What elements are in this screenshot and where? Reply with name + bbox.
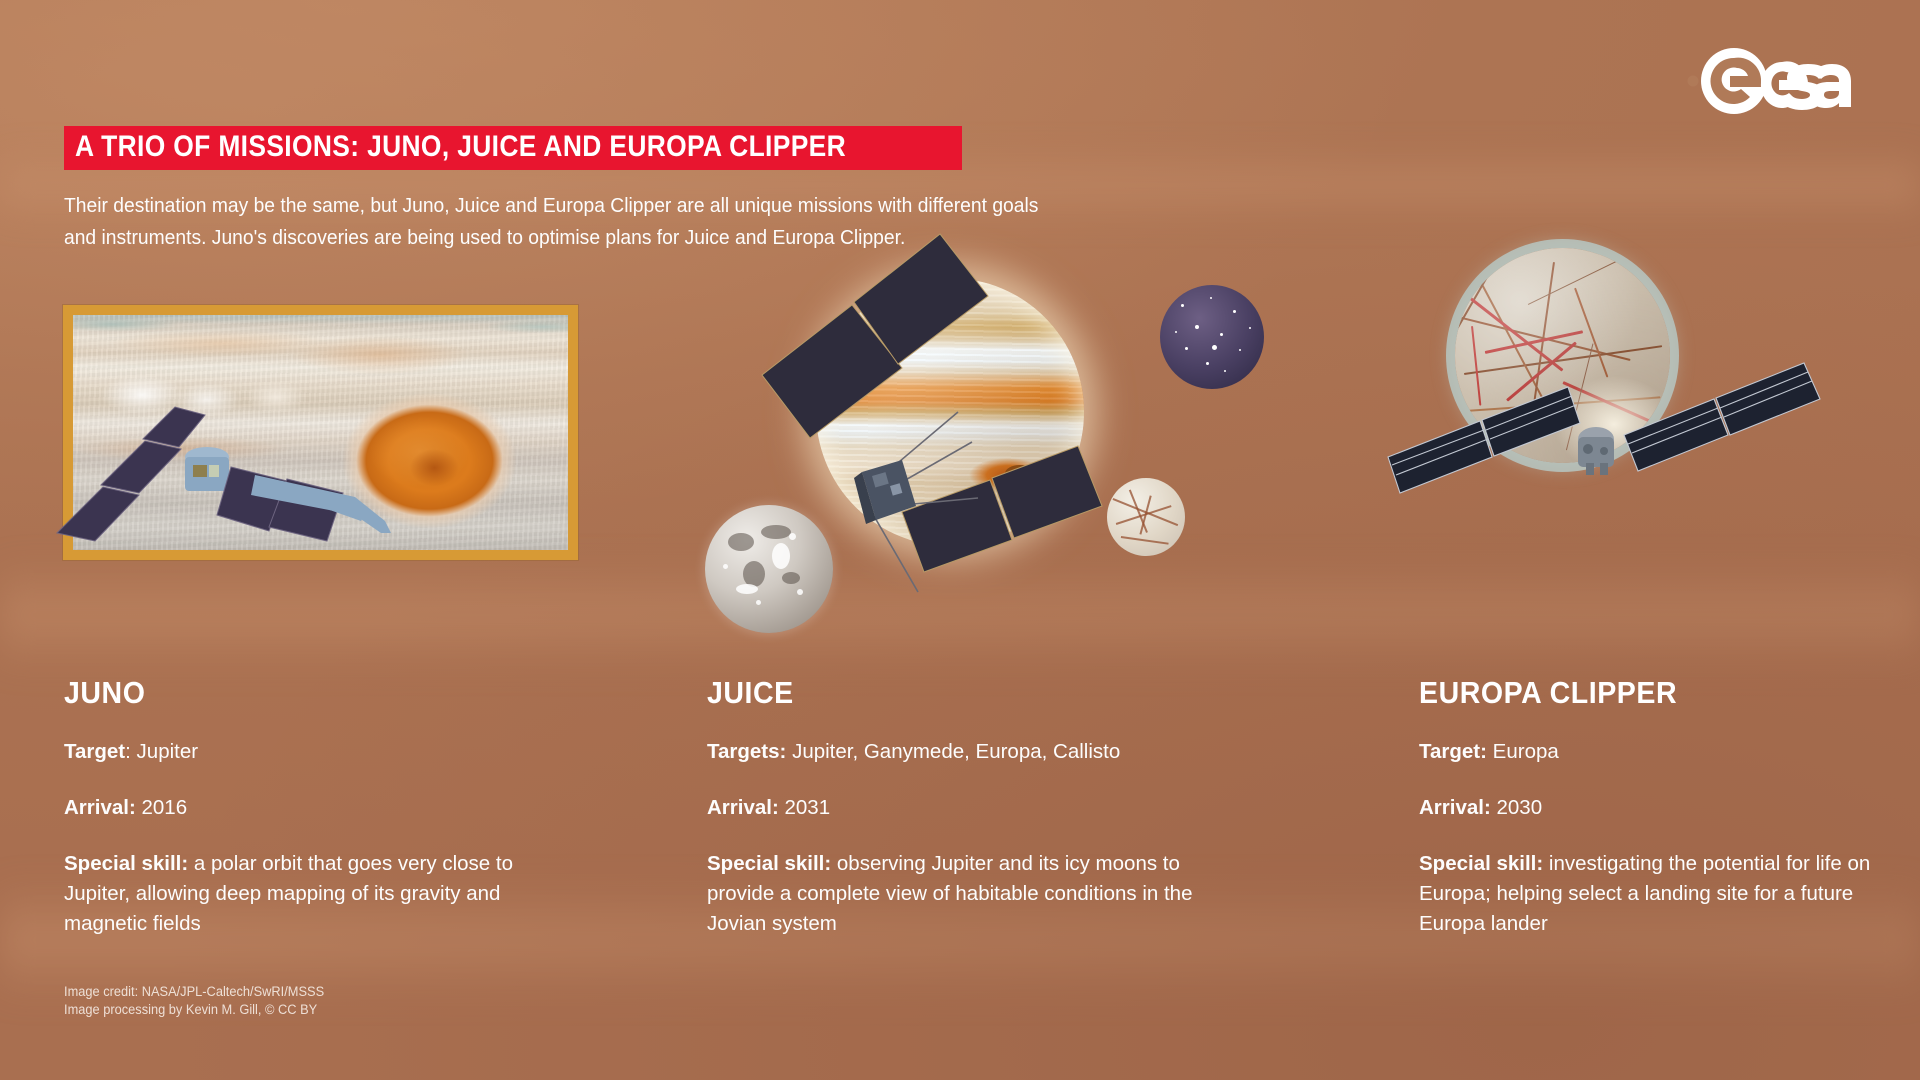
arrival-label: Arrival: xyxy=(1419,796,1491,819)
ganymede-bright-spot xyxy=(736,584,758,594)
skill-label: Special skill: xyxy=(64,852,188,875)
star xyxy=(1195,325,1199,329)
mission-target-juice: Targets: Jupiter, Ganymede, Europa, Call… xyxy=(707,737,1227,767)
star xyxy=(1239,349,1241,351)
target-value: Europa xyxy=(1493,740,1559,763)
image-credit: Image credit: NASA/JPL-Caltech/SwRI/MSSS… xyxy=(64,983,338,1019)
target-value: Jupiter, Ganymede, Europa, Callisto xyxy=(792,740,1120,763)
mission-arrival-juno: Arrival: 2016 xyxy=(64,793,584,823)
mission-target-europa-clipper: Target: Europa xyxy=(1419,737,1889,767)
page-subtitle-line-2: and instruments. Juno's discoveries are … xyxy=(64,222,1192,254)
mission-name-juice: JUICE xyxy=(707,675,1185,711)
mission-name-juno: JUNO xyxy=(64,675,542,711)
mission-column-europa-clipper: EUROPA CLIPPER Target: Europa Arrival: 2… xyxy=(1419,675,1889,939)
page-title-banner: A TRIO OF MISSIONS: JUNO, JUICE AND EURO… xyxy=(64,126,962,170)
star xyxy=(1224,370,1226,372)
image-credit-line-1: Image credit: NASA/JPL-Caltech/SwRI/MSSS xyxy=(64,983,324,1001)
page-subtitle-line-1: Their destination may be the same, but J… xyxy=(64,190,1192,222)
page-title: A TRIO OF MISSIONS: JUNO, JUICE AND EURO… xyxy=(75,130,846,164)
star xyxy=(1212,345,1217,350)
ganymede-crater xyxy=(789,533,796,540)
star xyxy=(1181,304,1184,307)
arrival-value: 2016 xyxy=(141,796,187,819)
galaxy-globular-cluster xyxy=(1160,285,1264,389)
target-separator: : xyxy=(125,740,136,763)
ganymede-patch xyxy=(761,525,791,539)
arrival-value: 2031 xyxy=(784,796,830,819)
mission-skill-europa-clipper: Special skill: investigating the potenti… xyxy=(1419,849,1889,939)
star xyxy=(1249,327,1251,329)
target-value: Jupiter xyxy=(137,740,199,763)
star xyxy=(1206,362,1209,365)
mission-column-juice: JUICE Targets: Jupiter, Ganymede, Europa… xyxy=(707,675,1227,939)
skill-label: Special skill: xyxy=(707,852,831,875)
mission-skill-juno: Special skill: a polar orbit that goes v… xyxy=(64,849,584,939)
juno-spacecraft xyxy=(55,415,395,550)
ganymede-crater xyxy=(797,589,803,595)
ganymede-crater xyxy=(723,564,728,569)
mission-skill-juice: Special skill: observing Jupiter and its… xyxy=(707,849,1227,939)
ganymede-crater xyxy=(756,600,761,605)
mission-arrival-europa-clipper: Arrival: 2030 xyxy=(1419,793,1889,823)
star xyxy=(1233,310,1236,313)
ganymede-patch xyxy=(782,572,800,584)
europa-clipper-spacecraft xyxy=(1528,405,1853,580)
mission-arrival-juice: Arrival: 2031 xyxy=(707,793,1227,823)
star xyxy=(1175,331,1177,333)
ganymede-patch xyxy=(728,533,754,551)
esa-logo[interactable] xyxy=(1666,44,1856,118)
mission-target-juno: Target: Jupiter xyxy=(64,737,584,767)
image-credit-line-2: Image processing by Kevin M. Gill, © CC … xyxy=(64,1001,324,1019)
skill-label: Special skill: xyxy=(1419,852,1543,875)
ganymede-bright-spot xyxy=(772,543,790,569)
target-label: Target xyxy=(64,740,125,763)
arrival-value: 2030 xyxy=(1496,796,1542,819)
mission-name-europa-clipper: EUROPA CLIPPER xyxy=(1419,675,1851,711)
target-label: Target: xyxy=(1419,740,1487,763)
page-subtitle: Their destination may be the same, but J… xyxy=(64,190,1264,254)
target-label: Targets: xyxy=(707,740,786,763)
star xyxy=(1220,333,1223,336)
star xyxy=(1185,347,1188,350)
mission-column-juno: JUNO Target: Jupiter Arrival: 2016 Speci… xyxy=(64,675,584,939)
arrival-label: Arrival: xyxy=(64,796,136,819)
arrival-label: Arrival: xyxy=(707,796,779,819)
star xyxy=(1210,297,1212,299)
ganymede-moon xyxy=(705,505,833,633)
juice-spacecraft xyxy=(862,420,1162,700)
